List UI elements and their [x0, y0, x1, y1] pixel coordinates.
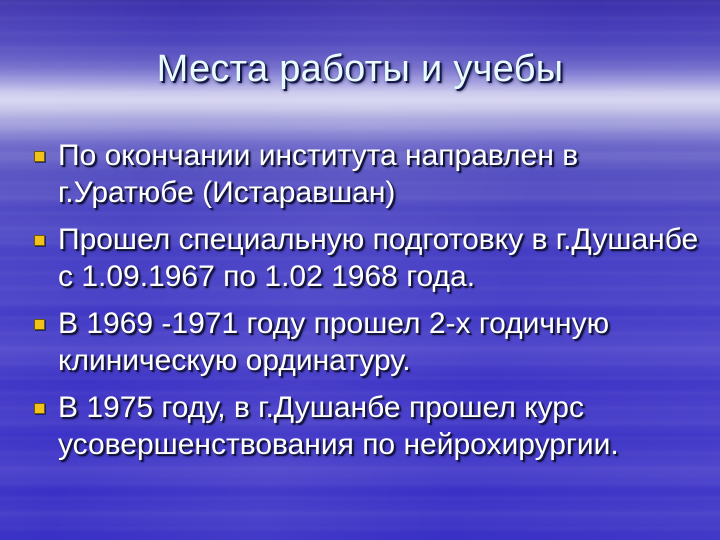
bullet-list: По окончании института направлен в г.Ура…	[26, 137, 702, 473]
square-bullet-icon	[34, 151, 45, 162]
list-item: Прошел специальную подготовку в г.Душанб…	[26, 221, 702, 295]
list-item-text: Прошел специальную подготовку в г.Душанб…	[58, 223, 698, 293]
square-bullet-icon	[34, 403, 45, 414]
list-item-text: По окончании института направлен в г.Ура…	[58, 139, 578, 209]
list-item: В 1975 году, в г.Душанбе прошел курс усо…	[26, 389, 702, 463]
square-bullet-icon	[34, 319, 45, 330]
square-bullet-icon	[34, 235, 45, 246]
list-item-text: В 1975 году, в г.Душанбе прошел курс усо…	[58, 391, 619, 461]
list-item-text: В 1969 -1971 году прошел 2-х годичную кл…	[58, 307, 609, 377]
list-item: По окончании института направлен в г.Ура…	[26, 137, 702, 211]
presentation-slide: Места работы и учебы По окончании инстит…	[0, 0, 720, 540]
list-item: В 1969 -1971 году прошел 2-х годичную кл…	[26, 305, 702, 379]
slide-title: Места работы и учебы	[0, 47, 720, 91]
slide-content: Места работы и учебы По окончании инстит…	[0, 0, 720, 540]
